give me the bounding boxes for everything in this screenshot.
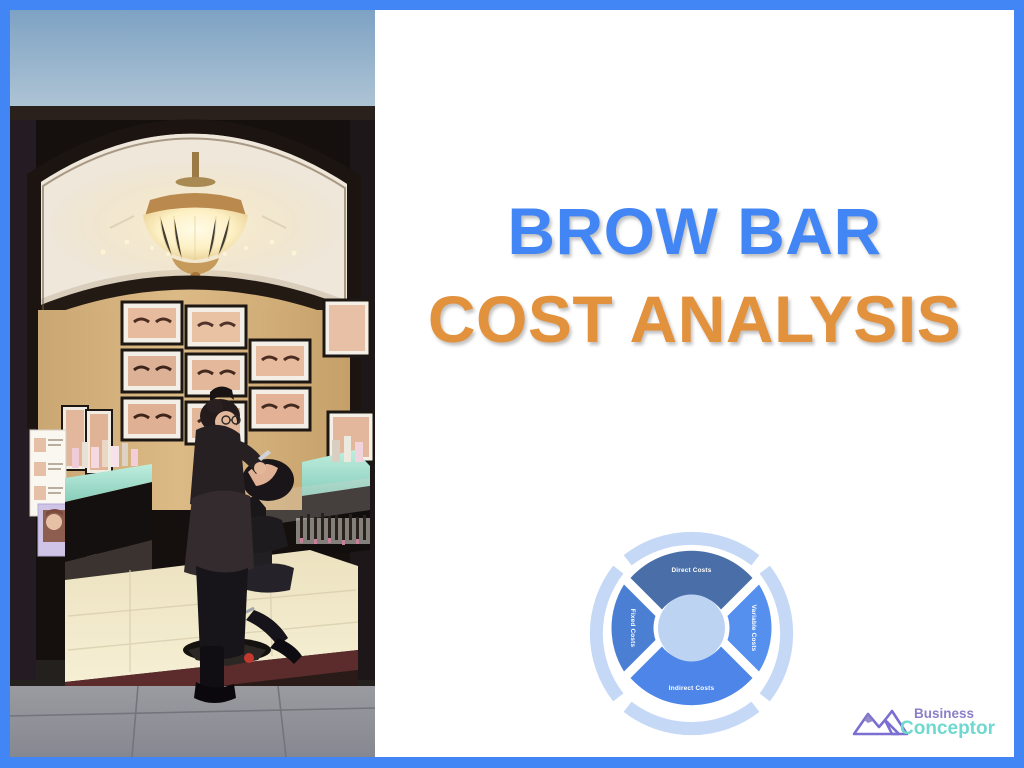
brand-logo: Business Conceptor <box>852 700 1000 746</box>
title-block: BROW BAR COST ANALYSIS <box>375 195 1014 357</box>
brand-name-bottom: Conceptor <box>900 718 996 739</box>
page-title-primary: BROW BAR <box>375 195 1014 269</box>
slide: BROW BAR COST ANALYSIS <box>0 0 1024 768</box>
segment-variable-costs[interactable]: Variable Costs <box>728 585 772 672</box>
page-title-secondary: COST ANALYSIS <box>375 283 1014 357</box>
salon-photo-image <box>10 10 375 757</box>
salon-photo <box>10 10 375 757</box>
donut-chart-svg: Direct Costs Variable Costs Indirect Cos… <box>569 510 814 746</box>
segment-label-direct-costs: Direct Costs <box>671 567 711 574</box>
cost-structure-donut-chart: Direct Costs Variable Costs Indirect Cos… <box>569 510 814 746</box>
donut-center-hub <box>658 595 725 662</box>
content-panel: BROW BAR COST ANALYSIS <box>375 10 1014 757</box>
segment-label-variable-costs: Variable Costs <box>750 605 757 652</box>
segment-label-indirect-costs: Indirect Costs <box>669 685 715 692</box>
brand-logo-svg: Business Conceptor <box>852 700 1000 746</box>
slide-inner: BROW BAR COST ANALYSIS <box>10 10 1014 757</box>
segment-label-fixed-costs: Fixed Costs <box>629 609 636 648</box>
segment-fixed-costs[interactable]: Fixed Costs <box>612 585 656 672</box>
